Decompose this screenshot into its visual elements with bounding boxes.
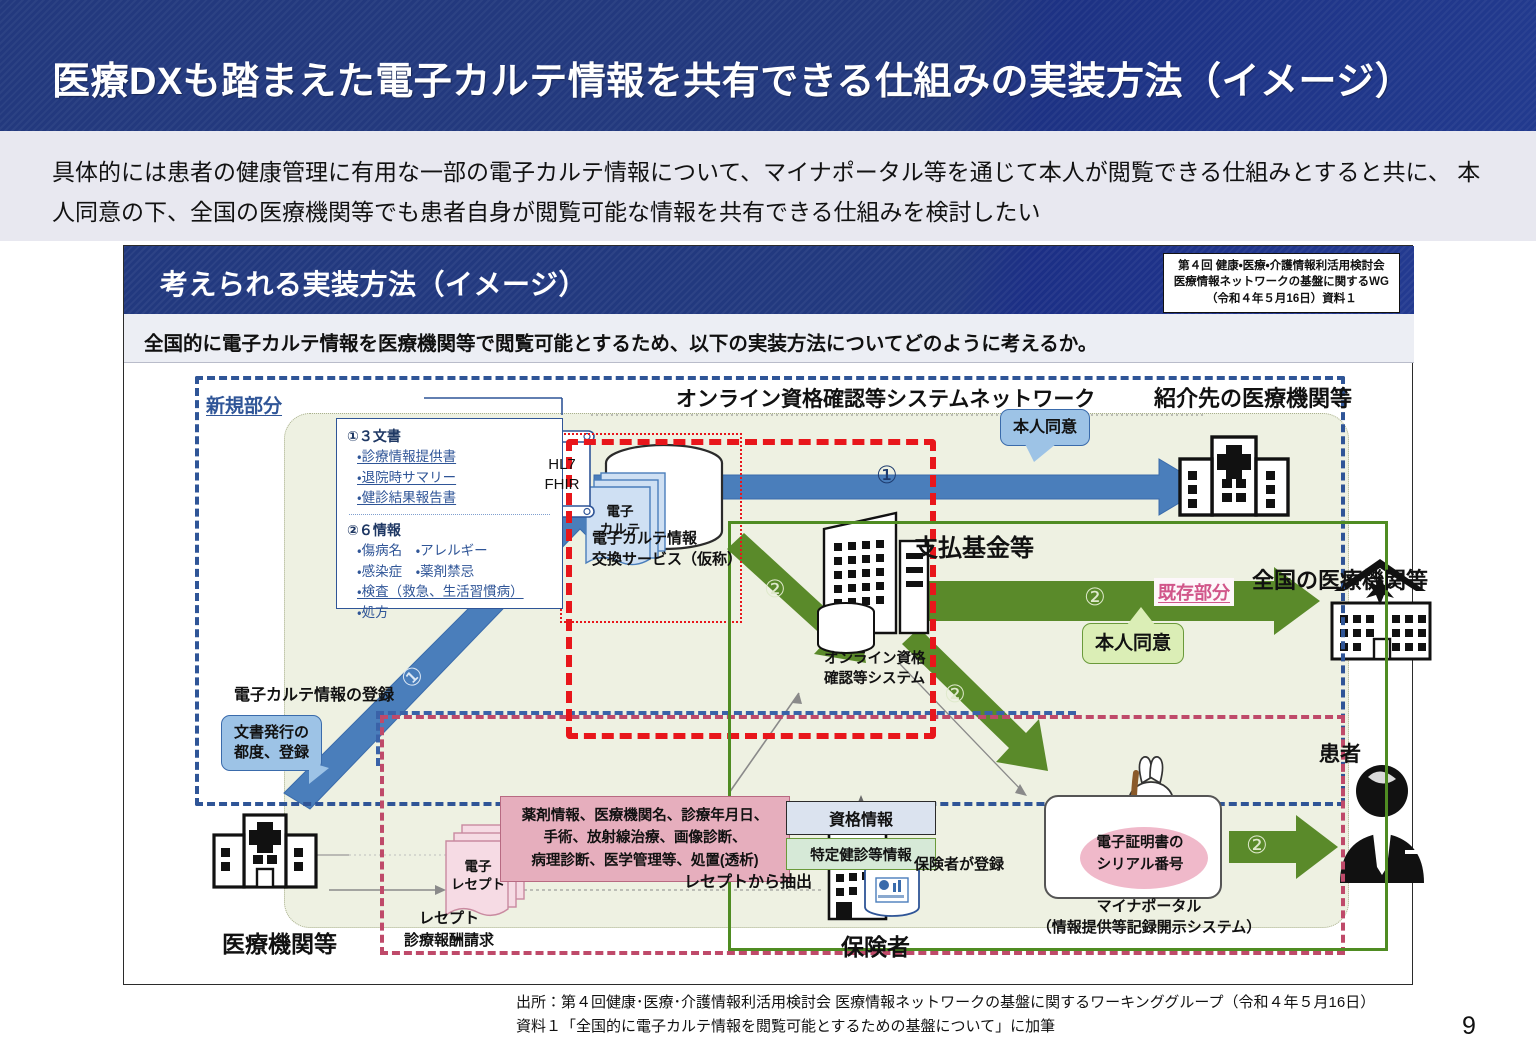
myna-portal-label: マイナポータル （情報提供等記録開示システム） — [1024, 896, 1274, 939]
medical-institution-icon — [214, 815, 316, 887]
documents-divider — [349, 514, 550, 515]
documents-item: ・処方 — [357, 603, 554, 624]
figure-question-bar: 全国的に電子カルテ情報を医療機関等で閲覧可能とするため、以下の実装方法についてど… — [124, 314, 1414, 363]
online-system-line-2: 確認等システム — [824, 669, 964, 689]
exchange-service-line-1: 電子カルテ情報 — [592, 528, 767, 549]
diagram-canvas: 新規部分 既存部分 ①３文書 ・診療情報提供書 ・退院時サマリー ・健診結果報告… — [124, 363, 1414, 986]
lead-band: 具体的には患者の健康管理に有用な一部の電子カルテ情報について、マイナポータル等を… — [0, 131, 1536, 241]
chart-registration-label: 電子カルテ情報の登録 — [234, 681, 394, 705]
reference-line-2: 医療情報ネットワークの基盤に関するWG — [1174, 274, 1389, 290]
documents-item: ・健診結果報告書 — [357, 488, 554, 509]
qualification-info-box: 資格情報 — [786, 801, 936, 835]
documents-item: ・退院時サマリー — [357, 468, 554, 489]
insurer-label: 保険者 — [841, 928, 910, 962]
target-documents-box: ①３文書 ・診療情報提供書 ・退院時サマリー ・健診結果報告書 ②６情報 ・傷病… — [336, 418, 563, 609]
documents-group2-heading: ②６情報 — [347, 520, 554, 541]
documents-item: ・検査（救急、生活習慣病） — [357, 582, 554, 603]
page-title: 医療DXも踏まえた電子カルテ情報を共有できる仕組みの実装方法（イメージ） — [52, 50, 1413, 105]
patient-label: 患者 — [1319, 738, 1361, 768]
online-system-line-1: オンライン資格 — [824, 649, 964, 669]
receipt-line-2: レセプト — [450, 876, 506, 894]
flow-number-2-to-myna: ② — [944, 680, 966, 709]
consent-blue-text: 本人同意 — [1013, 419, 1077, 436]
new-section-label: 新規部分 — [206, 391, 282, 418]
reference-line-3: （令和４年５月16日）資料１ — [1174, 291, 1389, 307]
pink-line-1: 薬剤情報、医療機関名、診療年月日、 — [509, 805, 781, 827]
electronic-receipt-label: 電子 レセプト — [450, 858, 506, 895]
serial-line-1: 電子証明書の — [1078, 833, 1202, 855]
exchange-service-line-2: 交換サービス（仮称） — [592, 549, 767, 570]
figure-question: 全国的に電子カルテ情報を医療機関等で閲覧可能とするため、以下の実装方法についてど… — [144, 327, 1097, 356]
serial-line-2: シリアル番号 — [1078, 855, 1202, 877]
source-note: 出所：第４回健康･医療･介護情報利活用検討会 医療情報ネットワークの基盤に関する… — [516, 991, 1476, 1038]
nationwide-institutions-label: 全国の医療機関等 — [1252, 563, 1428, 595]
figure-frame: 考えられる実装方法（イメージ） 第４回 健康・医療・介護情報利活用検討会 医療情… — [123, 245, 1413, 985]
medical-institution-label: 医療機関等 — [222, 925, 337, 959]
serial-number-label: 電子証明書の シリアル番号 — [1078, 833, 1202, 877]
lead-paragraph: 具体的には患者の健康管理に有用な一部の電子カルテ情報について、マイナポータル等を… — [52, 153, 1492, 232]
flow-number-2-to-institutions: ② — [1084, 583, 1106, 612]
source-line-1: 出所：第４回健康･医療･介護情報利活用検討会 医療情報ネットワークの基盤に関する… — [516, 991, 1476, 1015]
payment-fund-label: 支払基金等 — [914, 528, 1034, 563]
documents-item: ・傷病名 ・アレルギー — [357, 541, 554, 562]
db-icon-line-1: 電子 — [590, 503, 650, 521]
documents-group1-heading: ①３文書 — [347, 426, 554, 447]
source-line-2: 資料１「全国的に電子カルテ情報を閲覧可能とするための基盤について」に加筆 — [516, 1015, 1476, 1039]
page-number: 9 — [1462, 1012, 1476, 1041]
flow-number-2-to-kikin: ② — [764, 575, 786, 604]
flow-number-1-horizontal: ① — [876, 461, 898, 490]
extract-from-rezept-label: レセプトから抽出 — [684, 868, 812, 892]
hl7-fhir-label: HL7 FHIR — [536, 455, 588, 496]
issue-line-2: 都度、登録 — [234, 743, 309, 763]
title-band: 医療DXも踏まえた電子カルテ情報を共有できる仕組みの実装方法（イメージ） — [0, 0, 1536, 131]
rezept-line-1: レセプト — [389, 908, 509, 930]
pink-line-2: 手術、放射線治療、画像診断、 — [509, 827, 781, 849]
receipt-line-1: 電子 — [450, 858, 506, 876]
myna-line-1: マイナポータル — [1024, 896, 1274, 917]
hl7-label-line-1: HL7 — [536, 455, 588, 475]
insurer-registers-label: 保険者が登録 — [914, 853, 1004, 874]
documents-item: ・診療情報提供書 — [357, 447, 554, 468]
hl7-label-line-2: FHIR — [536, 475, 588, 495]
slide-root: 医療DXも踏まえた電子カルテ情報を共有できる仕組みの実装方法（イメージ） 具体的… — [0, 0, 1536, 1063]
online-qualification-system-label: オンライン資格 確認等システム — [824, 649, 964, 689]
document-issue-callout: 文書発行の 都度、登録 — [221, 715, 322, 771]
consent-green-text: 本人同意 — [1095, 633, 1171, 654]
destination-institution-label: 紹介先の医療機関等 — [1154, 381, 1352, 413]
reference-box: 第４回 健康・医療・介護情報利活用検討会 医療情報ネットワークの基盤に関するWG… — [1163, 253, 1400, 313]
figure-title: 考えられる実装方法（イメージ） — [160, 263, 587, 303]
reference-line-1: 第４回 健康・医療・介護情報利活用検討会 — [1174, 258, 1389, 274]
callout-tail — [309, 762, 329, 784]
flow-number-2-to-patient: ② — [1246, 831, 1268, 860]
consent-callout-blue: 本人同意 — [1000, 409, 1090, 446]
consent-callout-green: 本人同意 — [1082, 623, 1184, 664]
callout-tail — [1127, 607, 1155, 625]
issue-line-1: 文書発行の — [234, 723, 309, 743]
documents-item: ・感染症 ・薬剤禁忌 — [357, 562, 554, 583]
callout-tail — [1025, 444, 1056, 462]
exchange-service-label: 電子カルテ情報 交換サービス（仮称） — [592, 528, 767, 570]
rezept-line-2: 診療報酬請求 — [389, 930, 509, 952]
rezept-claim-label: レセプト 診療報酬請求 — [389, 908, 509, 952]
myna-line-2: （情報提供等記録開示システム） — [1024, 917, 1274, 938]
